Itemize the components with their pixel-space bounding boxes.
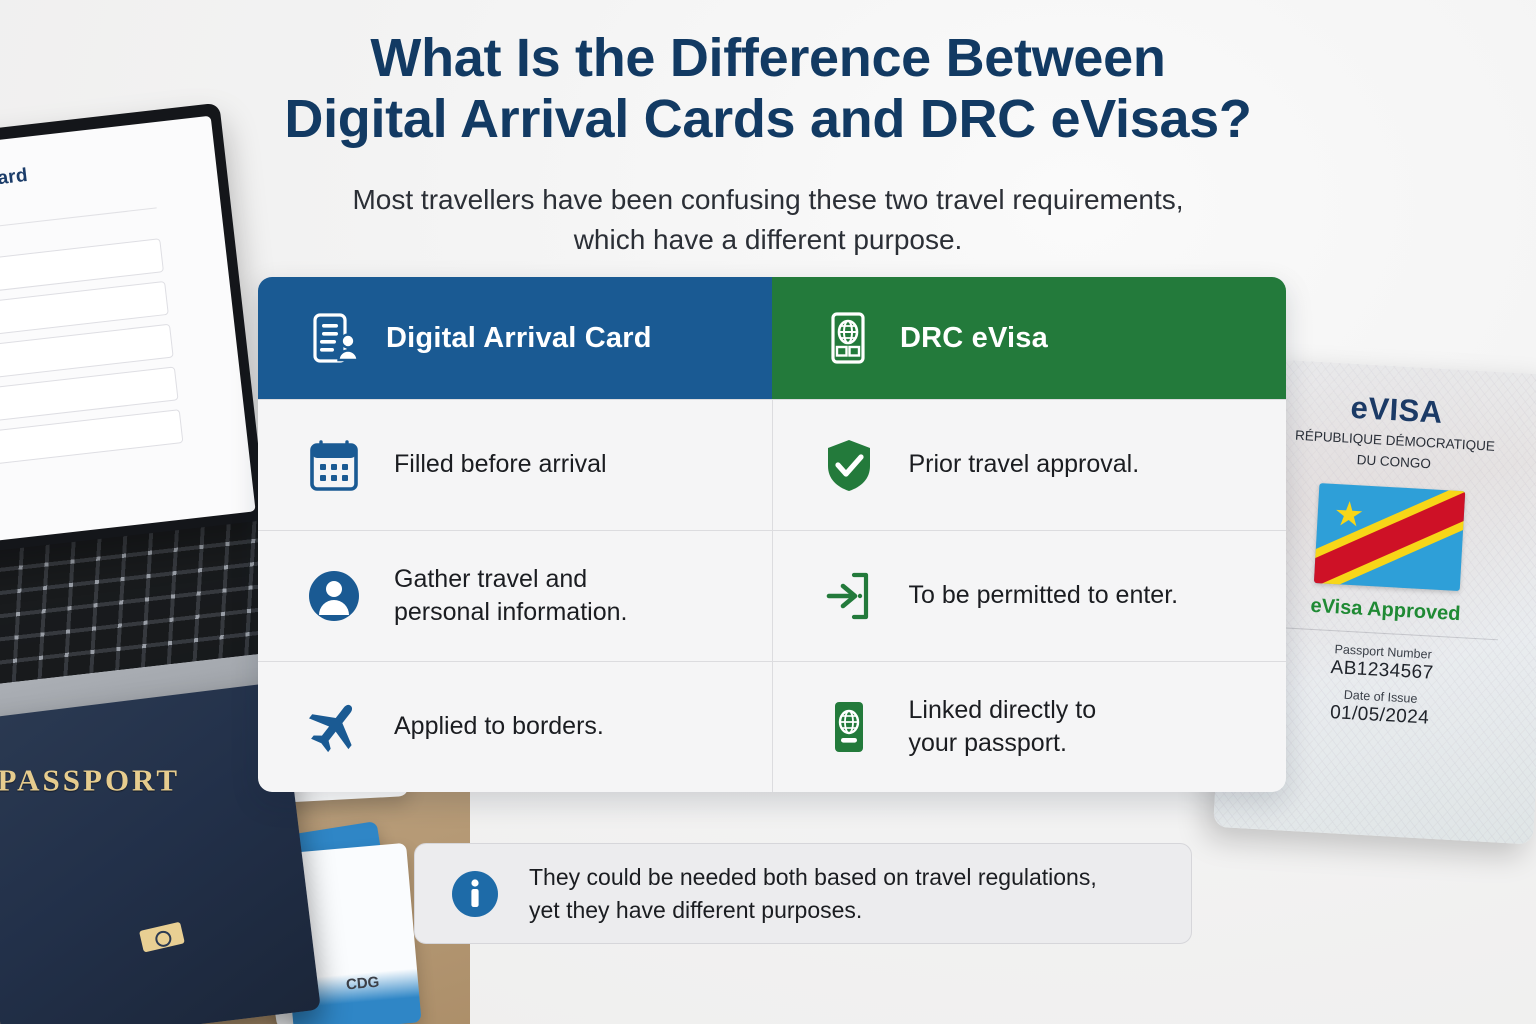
column-header-drc-evisa: DRC eVisa [772,277,1286,399]
cell-dac-filled-before-arrival: Filled before arrival [258,400,772,530]
column-header-label: Digital Arrival Card [386,322,652,355]
id-card-person-icon [304,308,364,368]
cell-text: Gather travel and personal information. [394,563,627,630]
passport-globe-icon [818,308,878,368]
cell-text: Applied to borders. [394,710,604,744]
cell-text-line1: Gather travel and [394,565,587,593]
passport-chip-icon [139,922,185,953]
page-title-line2: Digital Arrival Cards and DRC eVisas? [0,89,1536,150]
table-header-row: Digital Arrival Card DRC eVisa [258,277,1286,399]
table-row: Filled before arrival Prior travel appro… [258,399,1286,530]
page-subtitle-line1: Most travellers have been confusing thes… [0,180,1536,220]
info-note-text: They could be needed both based on trave… [529,861,1097,925]
column-header-label: DRC eVisa [900,322,1048,355]
evisa-divider [1270,626,1498,640]
field-email-address[interactable]: Email Address [0,409,183,477]
table-row: Gather travel and personal information. … [258,530,1286,661]
cell-text-line1: Linked directly to [909,696,1097,724]
comparison-table: Digital Arrival Card DRC eVisa [258,277,1286,792]
login-enter-arrow-icon [819,566,879,626]
page-subtitle-line2: which have a different purpose. [0,220,1536,260]
flag-star-icon: ★ [1333,497,1365,533]
infographic-canvas: Digital Arrival Card Application Persona… [0,0,1536,1024]
cell-text-line2: personal information. [394,598,627,626]
cell-text: Linked directly to your passport. [909,694,1097,761]
column-header-digital-arrival-card: Digital Arrival Card [258,277,772,399]
info-note-line1: They could be needed both based on trave… [529,864,1097,890]
airplane-icon [304,697,364,757]
user-circle-icon [304,566,364,626]
passport-globe-icon [819,697,879,757]
shield-check-icon [819,435,879,495]
cell-text: Filled before arrival [394,448,607,482]
cell-dac-applied-to-borders: Applied to borders. [258,662,772,792]
evisa-status: eVisa Approved [1245,591,1526,630]
cell-evisa-linked-to-passport: Linked directly to your passport. [772,662,1287,792]
table-row: Applied to borders. Linked directly [258,661,1286,792]
passport-cover-text: PASSPORT [0,762,238,798]
page-title-line1: What Is the Difference Between [0,28,1536,89]
info-circle-icon [445,864,505,924]
laptop-screen: Digital Arrival Card Application Persona… [0,103,267,558]
page-subtitle: Most travellers have been confusing thes… [0,180,1536,260]
cell-evisa-permitted-to-enter: To be permitted to enter. [772,531,1287,661]
cell-text: To be permitted to enter. [909,579,1179,613]
boarding-pass-code-right: CDG [345,974,380,994]
calendar-icon [304,435,364,495]
drc-flag: ★ [1314,483,1465,591]
info-note-line2: yet they have different purposes. [529,897,862,923]
info-note: They could be needed both based on trave… [414,843,1192,944]
cell-text-line2: your passport. [909,729,1067,757]
page-title: What Is the Difference Between Digital A… [0,28,1536,150]
cell-text: Prior travel approval. [909,448,1140,482]
cell-evisa-prior-travel-approval: Prior travel approval. [772,400,1287,530]
cell-dac-gather-information: Gather travel and personal information. [258,531,772,661]
